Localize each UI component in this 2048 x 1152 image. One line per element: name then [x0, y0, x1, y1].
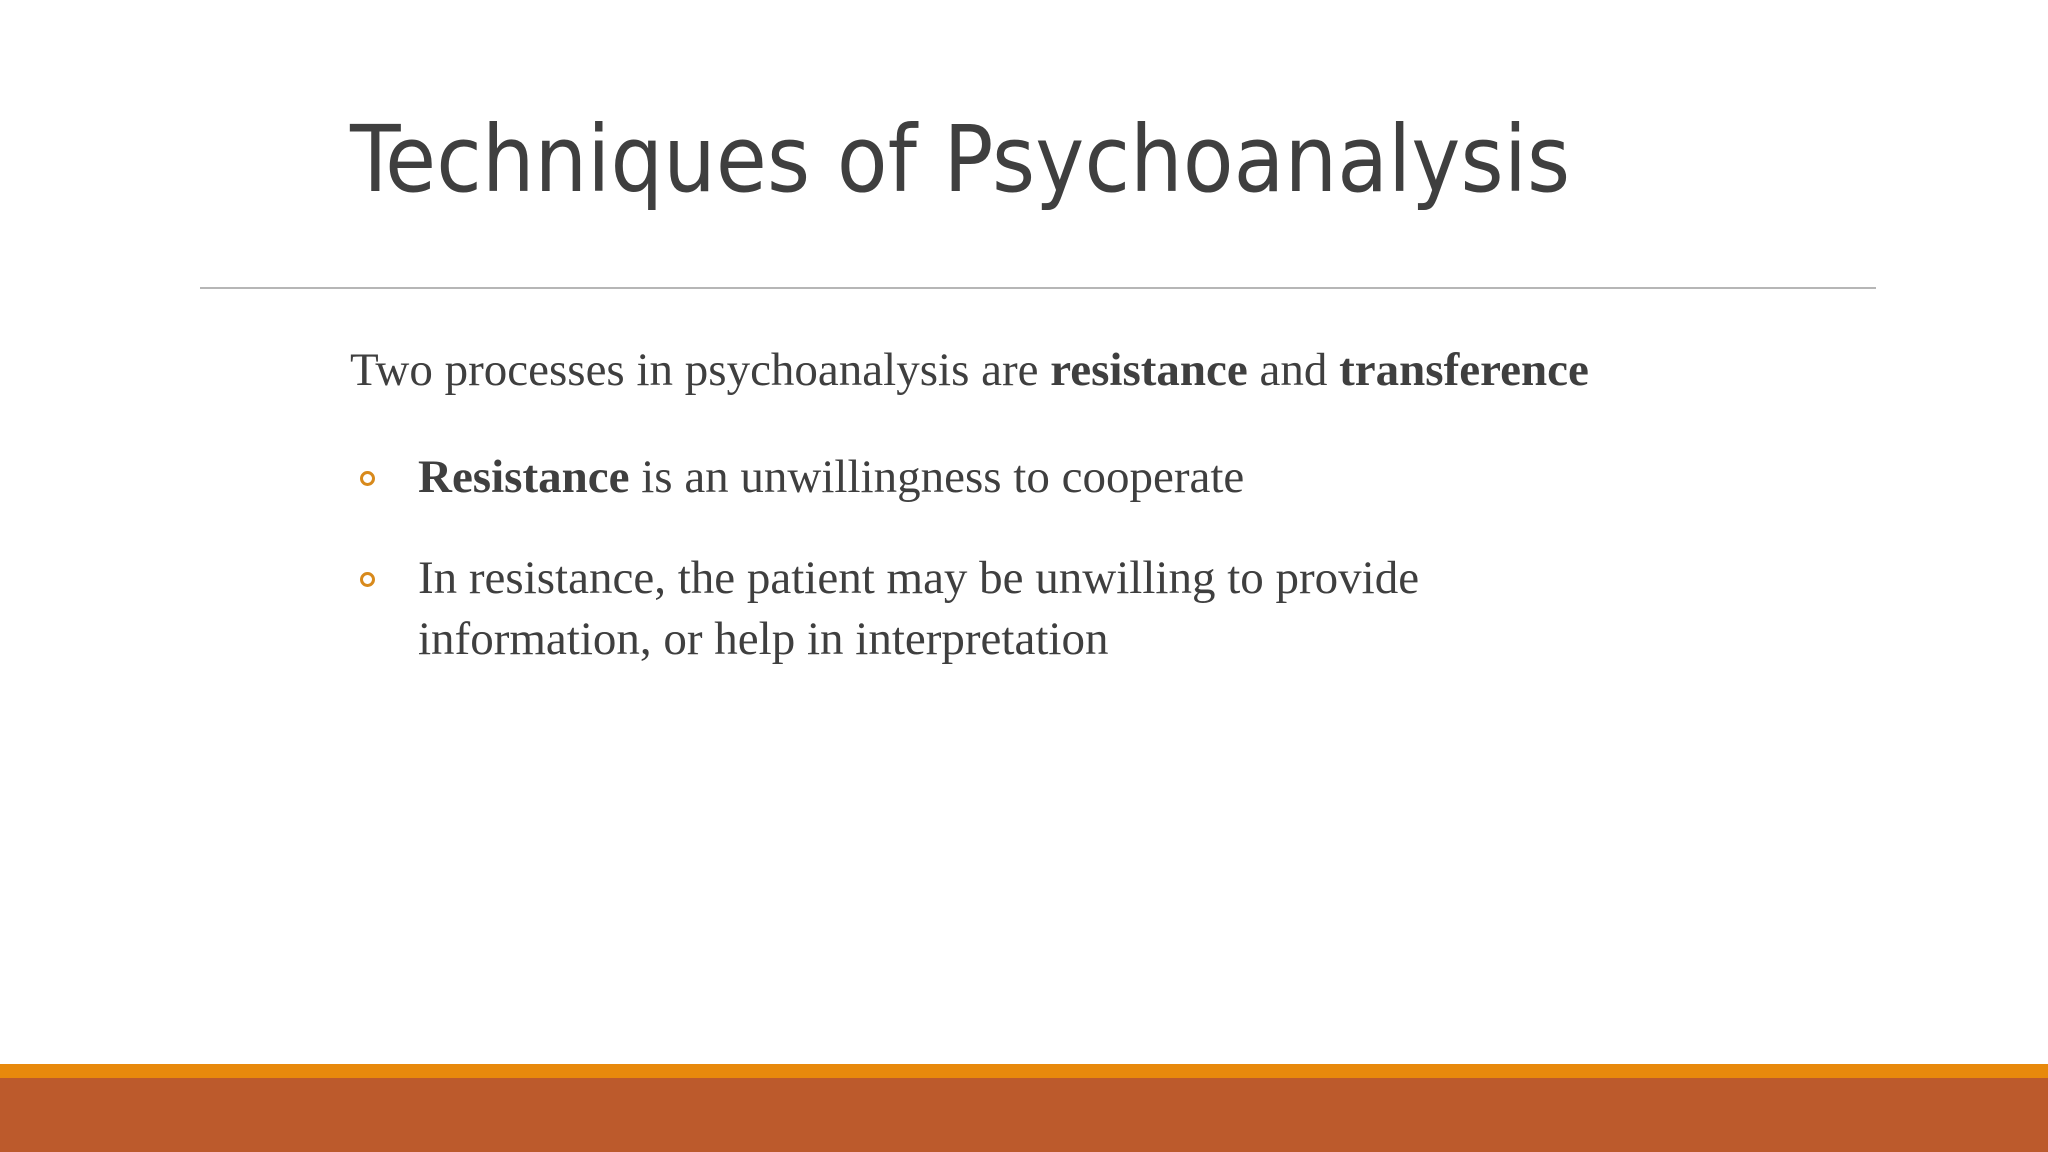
footer-accent-band: [0, 1064, 2048, 1078]
lead-paragraph-part1: Two processes in psychoanalysis are: [350, 344, 1050, 396]
page-title: Techniques of Psychoanalysis: [350, 108, 1910, 211]
bullet-text: In resistance, the patient may be unwill…: [418, 552, 1419, 665]
lead-paragraph-bold-resistance: resistance: [1050, 344, 1248, 396]
lead-paragraph-bold-transference: transference: [1339, 344, 1589, 396]
slide-canvas: Techniques of Psychoanalysis Two process…: [0, 0, 2048, 1152]
hollow-circle-bullet-icon: [360, 572, 375, 587]
bullet-text: is an unwillingness to cooperate: [629, 451, 1244, 503]
bullet-list: Resistance is an unwillingness to cooper…: [350, 447, 1680, 670]
lead-paragraph-part2: and: [1248, 344, 1339, 396]
slide-body: Two processes in psychoanalysis are resi…: [350, 340, 1680, 670]
lead-paragraph: Two processes in psychoanalysis are resi…: [350, 340, 1610, 401]
bullet-bold-lead: Resistance: [418, 451, 629, 503]
list-item: In resistance, the patient may be unwill…: [350, 548, 1548, 670]
list-item: Resistance is an unwillingness to cooper…: [350, 447, 1548, 508]
title-divider-rule: [200, 287, 1876, 289]
hollow-circle-bullet-icon: [360, 471, 375, 486]
footer-band: [0, 1078, 2048, 1152]
